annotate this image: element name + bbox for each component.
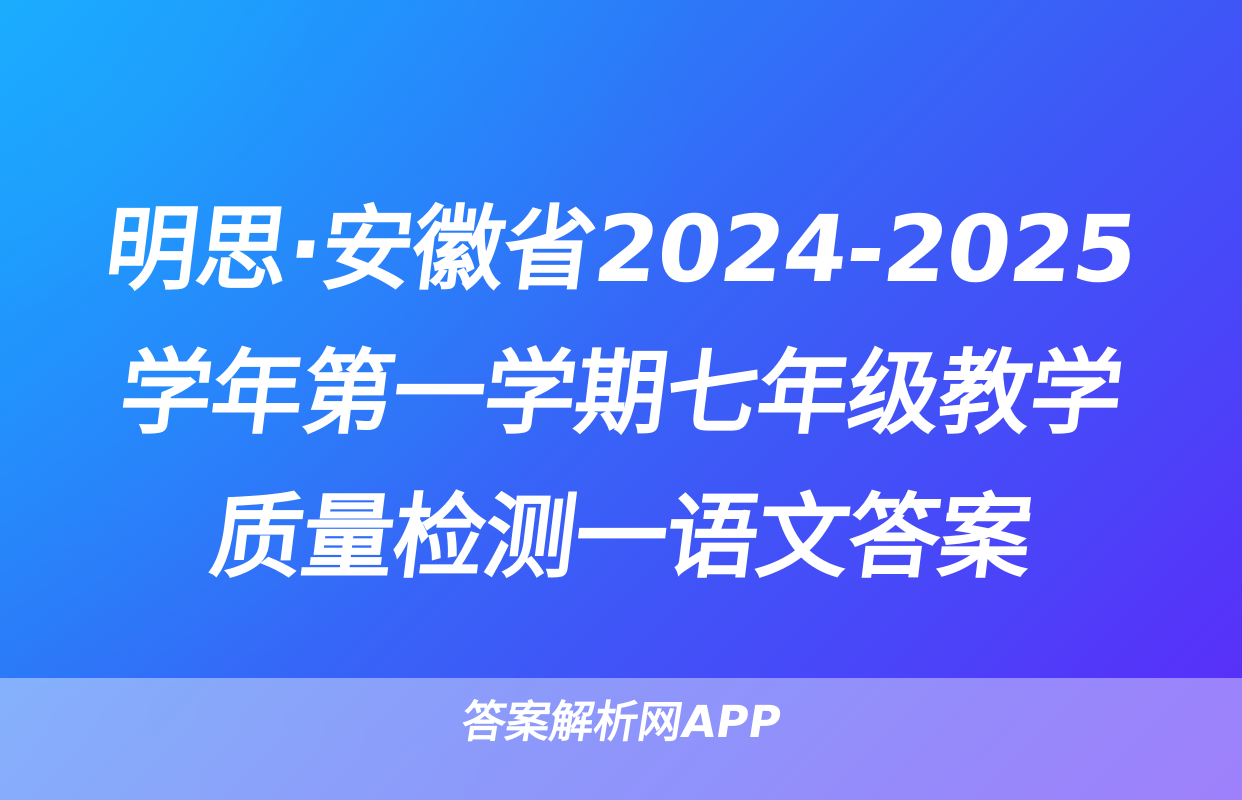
poster-canvas: 明思·安徽省2024-2025 学年第一学期七年级教学 质量检测一语文答案 答案…	[0, 0, 1242, 800]
poster-title-block: 明思·安徽省2024-2025 学年第一学期七年级教学 质量检测一语文答案	[0, 178, 1242, 610]
footer-watermark-band: 答案解析网APP	[0, 678, 1242, 800]
title-line-2: 学年第一学期七年级教学	[43, 322, 1199, 466]
title-line-1: 明思·安徽省2024-2025	[43, 178, 1199, 322]
title-line-3: 质量检测一语文答案	[43, 466, 1199, 610]
app-watermark-label: 答案解析网APP	[458, 701, 784, 745]
